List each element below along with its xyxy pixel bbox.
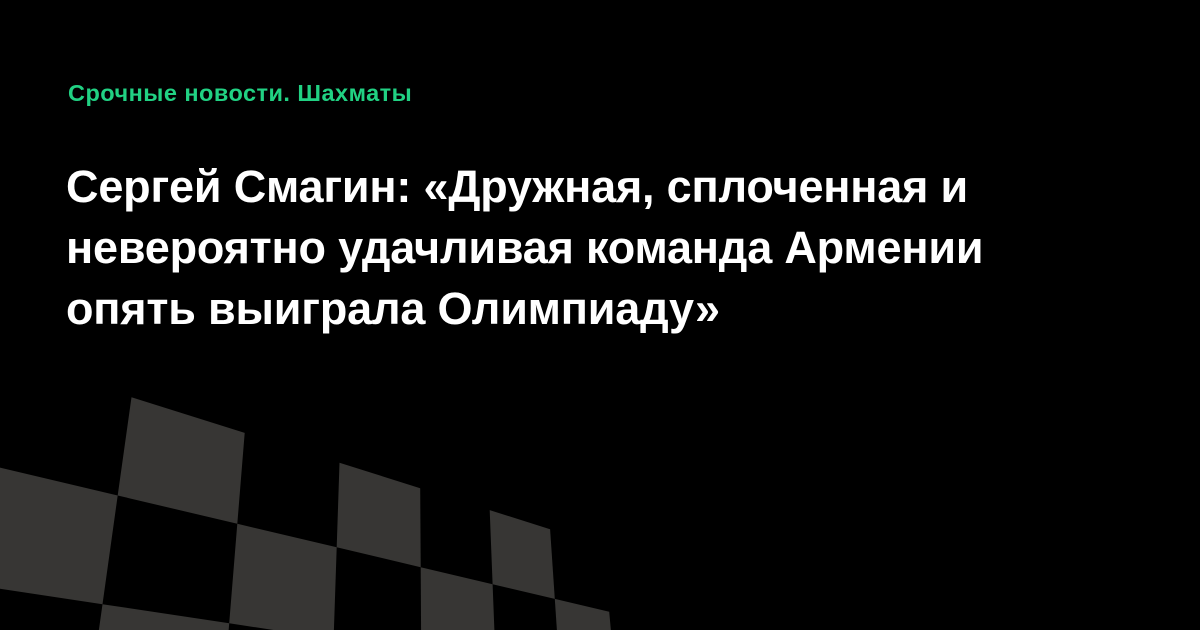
page-title: Сергей Смагин: «Дружная, сплоченная и не… — [66, 156, 1136, 339]
chessboard-tile — [86, 604, 230, 630]
headline-line-1: Сергей Смагин: «Дружная, сплоченная и — [66, 156, 1136, 217]
chessboard-tiles — [0, 300, 616, 630]
chessboard-tile — [229, 524, 337, 630]
chessboard-tile — [337, 463, 421, 567]
chessboard-tile — [118, 397, 245, 524]
chessboard-tile — [555, 599, 616, 630]
social-share-card: Срочные новости. Шахматы Сергей Смагин: … — [0, 0, 1200, 630]
chessboard-tile — [490, 510, 555, 599]
headline-line-3: опять выиграла Олимпиаду» — [66, 278, 1136, 339]
kicker-label: Срочные новости. Шахматы — [68, 79, 412, 107]
chessboard-tile — [421, 567, 496, 630]
headline-line-2: невероятно удачливая команда Армении — [66, 217, 1136, 278]
chessboard-tile — [0, 461, 118, 604]
